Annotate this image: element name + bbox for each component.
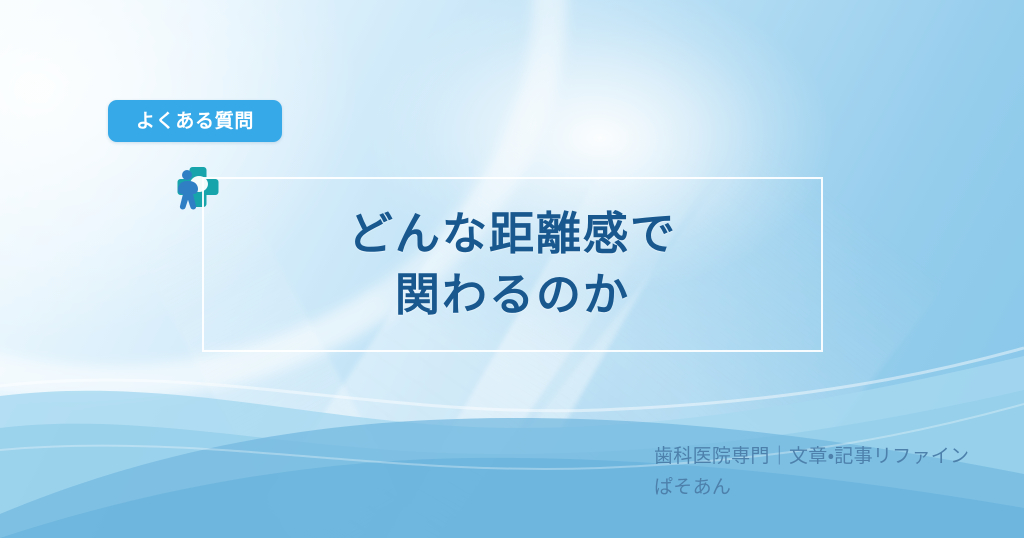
footer-line-1: 歯科医院専門｜文章・記事リファイン bbox=[654, 442, 984, 473]
title-line-1: どんな距離感で bbox=[348, 205, 677, 264]
footer-credit: 歯科医院専門｜文章・記事リファイン ぱそあん bbox=[654, 442, 984, 504]
page-title: どんな距離感で 関わるのか bbox=[202, 177, 823, 352]
footer-line-2: ぱそあん bbox=[654, 473, 984, 504]
faq-badge[interactable]: よくある質問 bbox=[108, 100, 282, 142]
faq-badge-label: よくある質問 bbox=[136, 112, 254, 131]
title-line-2: 関わるのか bbox=[395, 266, 630, 325]
faq-banner: よくある質問 どんな距離感で 関わるのか 歯科医院専門｜文章・記事リファイン ぱ… bbox=[0, 0, 1024, 538]
